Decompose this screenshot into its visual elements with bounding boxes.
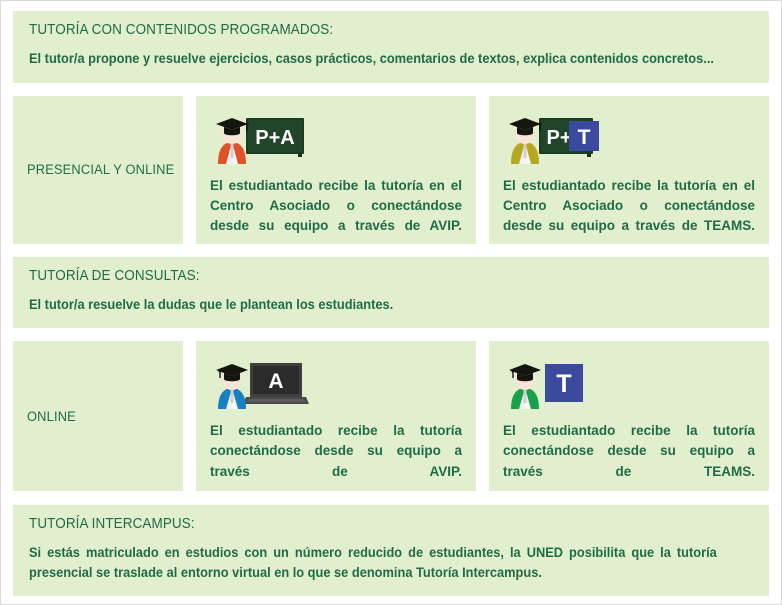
section-consultas-text: El tutor/a resuelve la dudas que le plan… xyxy=(29,295,717,315)
card-teams-text: El estudiantado recibe la tutoría conect… xyxy=(503,421,755,502)
intercampus-text-before: Si estás matriculado en estudios con un … xyxy=(29,545,717,580)
row-label-presencial-online: PRESENCIAL Y ONLINE xyxy=(13,96,183,244)
row-online: ONLINE A xyxy=(13,341,769,491)
section-intercampus: TUTORÍA INTERCAMPUS: Si estás matriculad… xyxy=(13,505,769,596)
tutor-laptop-a-icon: A xyxy=(210,353,462,409)
tutor-blackboard-pa-icon: P+A xyxy=(210,108,462,164)
card-pa: P+A El estudiantado recibe la tutoría en… xyxy=(196,96,476,244)
svg-text:P+: P+ xyxy=(546,127,571,149)
card-pt: P+ T El estudiantado recibe la tutoría e… xyxy=(489,96,769,244)
svg-text:A: A xyxy=(268,370,283,393)
card-pt-text: El estudiantado recibe la tutoría en el … xyxy=(503,176,755,257)
intercampus-text-bold: Tutoría Intercampus xyxy=(416,565,538,580)
section-intercampus-text: Si estás matriculado en estudios con un … xyxy=(29,543,717,582)
row-label-online: ONLINE xyxy=(13,341,183,491)
svg-text:T: T xyxy=(556,370,571,398)
svg-text:T: T xyxy=(578,126,591,149)
row-label-text: PRESENCIAL Y ONLINE xyxy=(27,162,174,177)
intercampus-text-after: . xyxy=(538,565,542,580)
card-avip-text: El estudiantado recibe la tutoría conect… xyxy=(210,421,462,502)
section-programados: TUTORÍA CON CONTENIDOS PROGRAMADOS: El t… xyxy=(13,11,769,83)
card-pa-text: El estudiantado recibe la tutoría en el … xyxy=(210,176,462,257)
tutorias-infographic-page: TUTORÍA CON CONTENIDOS PROGRAMADOS: El t… xyxy=(0,0,782,605)
section-consultas-title: TUTORÍA DE CONSULTAS: xyxy=(29,268,702,284)
tutor-teams-t-icon: T xyxy=(503,353,755,409)
section-programados-text: El tutor/a propone y resuelve ejercicios… xyxy=(29,49,717,69)
section-programados-title: TUTORÍA CON CONTENIDOS PROGRAMADOS: xyxy=(29,22,702,38)
section-intercampus-title: TUTORÍA INTERCAMPUS: xyxy=(29,516,702,532)
section-consultas: TUTORÍA DE CONSULTAS: El tutor/a resuelv… xyxy=(13,257,769,329)
tutor-blackboard-pt-icon: P+ T xyxy=(503,108,755,164)
card-teams: T El estudiantado recibe la tutoría cone… xyxy=(489,341,769,491)
svg-text:P+A: P+A xyxy=(255,127,294,149)
row-label-text: ONLINE xyxy=(27,409,76,424)
row-presencial-online: PRESENCIAL Y ONLINE P+A xyxy=(13,96,769,244)
card-avip: A El estudiantado recibe la tutoría cone… xyxy=(196,341,476,491)
